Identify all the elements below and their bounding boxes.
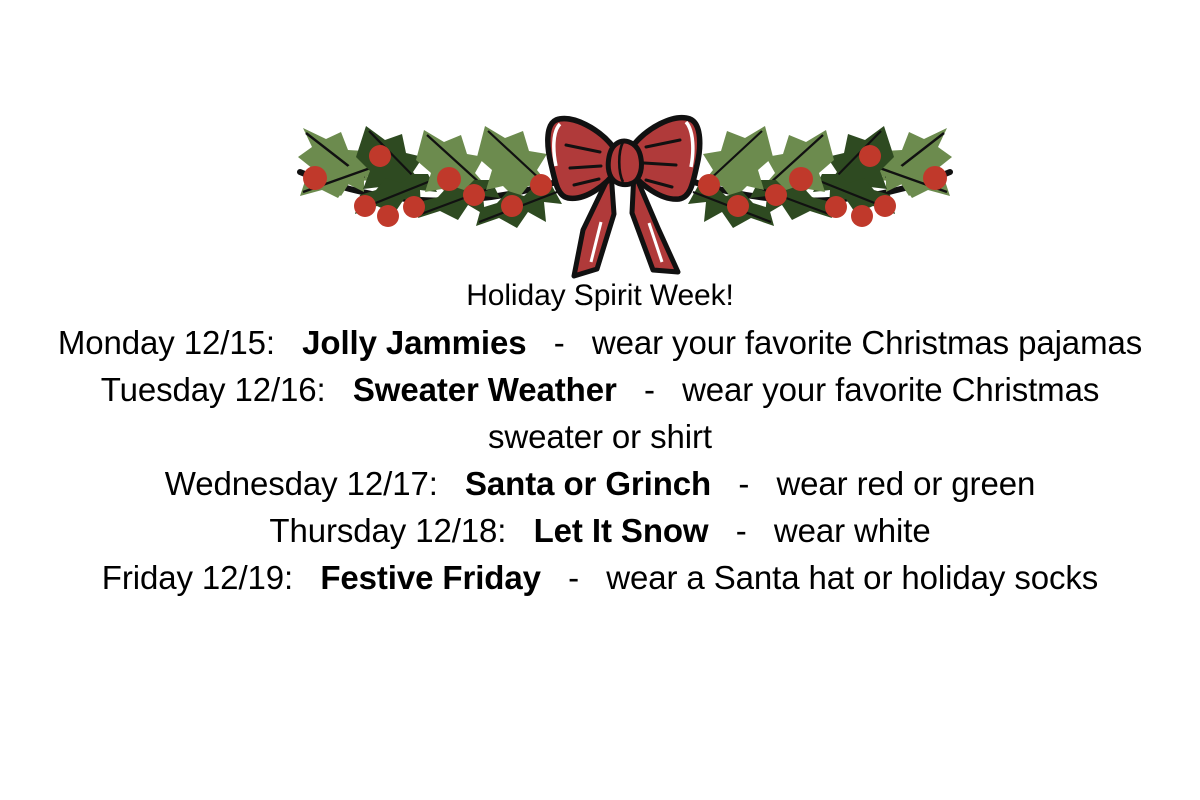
holly-berry-icon bbox=[851, 205, 873, 227]
leaf-vein-icon bbox=[479, 192, 557, 222]
holly-berry-icon bbox=[463, 184, 485, 206]
holly-berry-icon bbox=[530, 174, 552, 196]
day-dash: - bbox=[738, 465, 749, 502]
leaf-vein-icon bbox=[303, 166, 376, 192]
holly-berry-icon bbox=[303, 166, 327, 190]
bow-knot-icon bbox=[608, 141, 641, 185]
day-theme: Jolly Jammies bbox=[302, 324, 526, 361]
schedule-line-wednesday: Wednesday 12/17: Santa or Grinch - wear … bbox=[42, 460, 1158, 507]
day-description: wear a Santa hat or holiday socks bbox=[606, 559, 1098, 596]
holly-leaf-icon bbox=[476, 186, 562, 228]
leaf-vein-icon bbox=[830, 131, 881, 183]
holly-leaf-icon bbox=[879, 128, 952, 196]
announcement-text-block: Holiday Spirit Week! Monday 12/15: Jolly… bbox=[0, 272, 1200, 601]
holly-berry-icon bbox=[403, 196, 425, 218]
holly-garland-decoration bbox=[0, 0, 1200, 285]
vine-right-icon bbox=[694, 172, 950, 201]
holly-leaf-icon bbox=[355, 174, 437, 214]
bow-loop-left-icon bbox=[548, 119, 617, 199]
leaf-vein-icon bbox=[817, 180, 892, 210]
bow-tail-right-icon bbox=[632, 172, 678, 272]
leaf-vein-icon bbox=[421, 186, 496, 214]
day-label: Tuesday 12/16: bbox=[101, 371, 326, 408]
holly-leaf-icon bbox=[477, 126, 549, 200]
bow-loop-left-crease bbox=[570, 166, 601, 168]
holly-leaf-icon bbox=[418, 180, 500, 220]
leaf-vein-icon bbox=[369, 131, 420, 183]
holly-leaf-icon bbox=[763, 130, 834, 202]
bow-loop-right-crease bbox=[646, 140, 680, 147]
leaf-vein-icon bbox=[427, 135, 481, 184]
day-dash: - bbox=[736, 512, 747, 549]
holly-group-right bbox=[688, 126, 952, 228]
holly-berry-icon bbox=[727, 195, 749, 217]
bow-loop-right-crease bbox=[646, 180, 672, 187]
holly-leaf-icon bbox=[300, 160, 380, 198]
leaf-vein-icon bbox=[693, 192, 771, 222]
leaf-vein-icon bbox=[769, 135, 823, 184]
holly-leaf-icon bbox=[826, 126, 894, 200]
day-label: Monday 12/15: bbox=[58, 324, 275, 361]
page-title: Holiday Spirit Week! bbox=[42, 272, 1158, 319]
day-label: Wednesday 12/17: bbox=[165, 465, 438, 502]
holly-group-left bbox=[298, 126, 562, 228]
leaf-vein-icon bbox=[358, 180, 433, 210]
holly-berry-icon bbox=[501, 195, 523, 217]
day-dash: - bbox=[644, 371, 655, 408]
holly-berry-icon bbox=[923, 166, 947, 190]
holly-berry-icon bbox=[859, 145, 881, 167]
holly-berry-icon bbox=[437, 167, 461, 191]
holly-berry-icon bbox=[789, 167, 813, 191]
day-theme: Sweater Weather bbox=[353, 371, 617, 408]
leaf-vein-icon bbox=[306, 133, 364, 178]
schedule-line-monday: Monday 12/15: Jolly Jammies - wear your … bbox=[42, 319, 1158, 366]
red-bow-icon bbox=[548, 118, 700, 276]
leaf-vein-icon bbox=[754, 186, 829, 214]
bow-tail-left-icon bbox=[574, 172, 614, 276]
day-label: Friday 12/19: bbox=[102, 559, 293, 596]
day-theme: Santa or Grinch bbox=[465, 465, 711, 502]
holly-leaf-icon bbox=[688, 186, 774, 228]
day-theme: Festive Friday bbox=[320, 559, 541, 596]
holly-leaf-icon bbox=[416, 130, 487, 202]
holly-garland-icon bbox=[0, 0, 1200, 285]
holly-leaf-icon bbox=[870, 160, 950, 198]
holly-berry-icon bbox=[765, 184, 787, 206]
day-label: Thursday 12/18: bbox=[269, 512, 506, 549]
bow-loop-right-highlight bbox=[686, 122, 693, 167]
day-theme: Let It Snow bbox=[534, 512, 709, 549]
holly-berry-icon bbox=[874, 195, 896, 217]
bow-knot-crease bbox=[619, 142, 623, 182]
leaf-vein-icon bbox=[886, 133, 944, 178]
bow-tail-right-highlight bbox=[649, 223, 662, 262]
leaf-vein-icon bbox=[707, 131, 762, 182]
holly-leaf-icon bbox=[750, 180, 832, 220]
day-description: wear white bbox=[774, 512, 931, 549]
bow-loop-left-crease bbox=[574, 179, 599, 185]
holly-berry-icon bbox=[369, 145, 391, 167]
leaf-vein-icon bbox=[488, 131, 543, 182]
schedule-line-tuesday: Tuesday 12/16: Sweater Weather - wear yo… bbox=[42, 366, 1158, 460]
holly-leaf-icon bbox=[813, 174, 895, 214]
day-description: wear red or green bbox=[776, 465, 1035, 502]
bow-loop-left-crease bbox=[566, 145, 600, 152]
bow-loop-right-crease bbox=[644, 163, 676, 165]
holly-berry-icon bbox=[825, 196, 847, 218]
day-description: wear your favorite Christmas pajamas bbox=[592, 324, 1142, 361]
flyer-canvas: Holiday Spirit Week! Monday 12/15: Jolly… bbox=[0, 0, 1200, 800]
schedule-line-thursday: Thursday 12/18: Let It Snow - wear white bbox=[42, 507, 1158, 554]
leaf-vein-icon bbox=[874, 166, 947, 192]
holly-berry-icon bbox=[698, 174, 720, 196]
bow-loop-right-icon bbox=[629, 118, 700, 199]
holly-leaf-icon bbox=[701, 126, 773, 200]
day-dash: - bbox=[554, 324, 565, 361]
holly-berry-icon bbox=[354, 195, 376, 217]
vine-left-icon bbox=[300, 172, 556, 201]
day-dash: - bbox=[568, 559, 579, 596]
bow-loop-left-highlight bbox=[554, 124, 560, 166]
holly-leaf-icon bbox=[298, 128, 371, 196]
holly-berry-icon bbox=[377, 205, 399, 227]
bow-tail-left-highlight bbox=[591, 222, 601, 262]
schedule-line-friday: Friday 12/19: Festive Friday - wear a Sa… bbox=[42, 554, 1158, 601]
holly-leaf-icon bbox=[356, 126, 424, 200]
